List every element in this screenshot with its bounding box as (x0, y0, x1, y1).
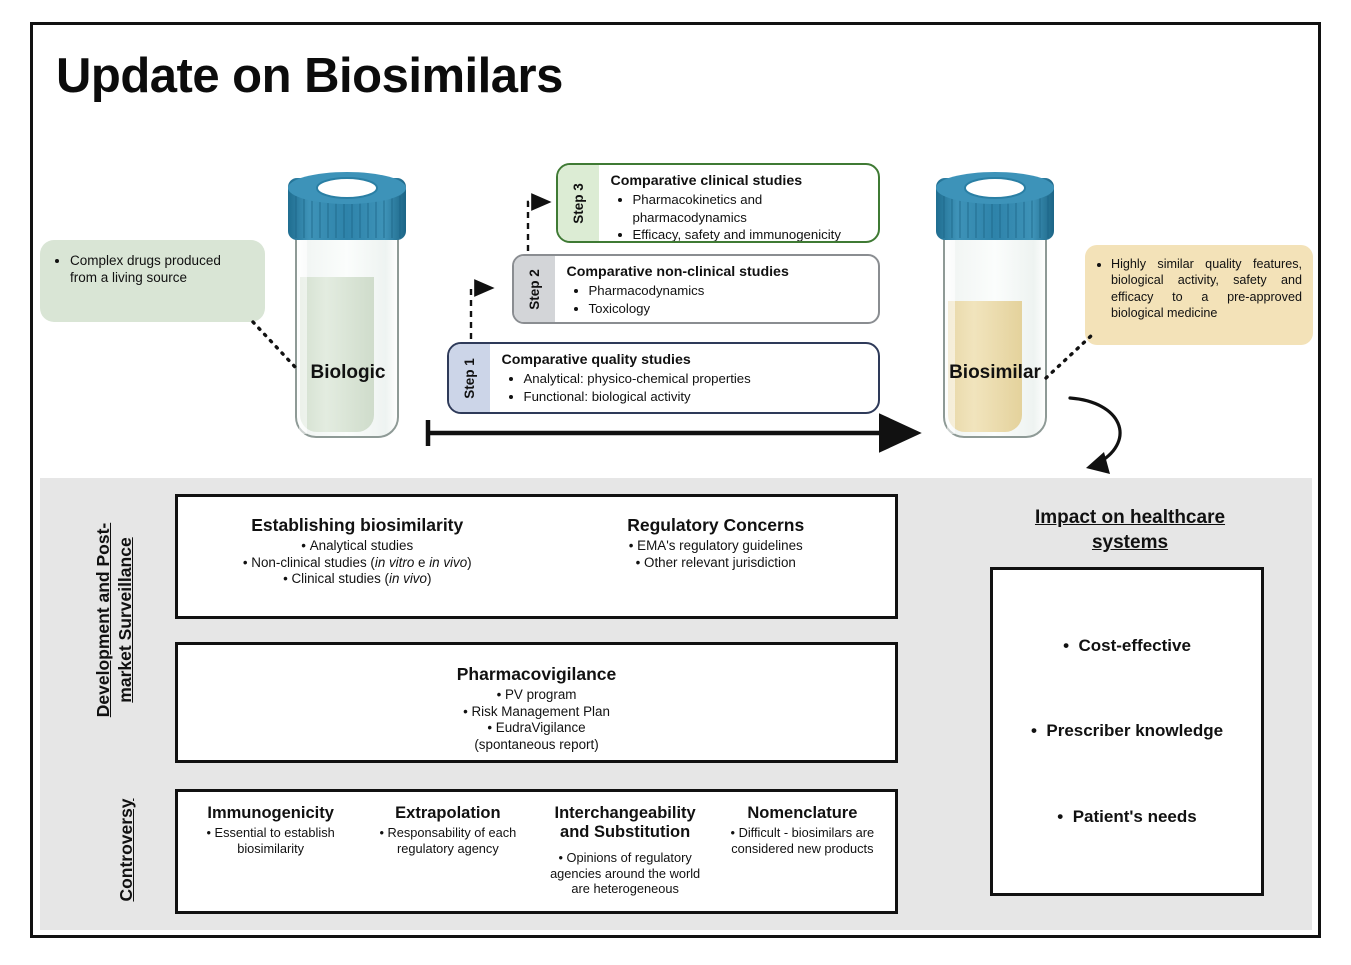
list-item: Essential to establish biosimilarity (186, 825, 355, 856)
establishing-column: Establishing biosimilarity Analytical st… (178, 515, 537, 616)
pharmacovigilance-heading: Pharmacovigilance (178, 664, 895, 685)
impact-heading-line2: systems (1092, 532, 1168, 553)
step-3-tab-label: Step 3 (571, 183, 586, 224)
interchangeability-list: Opinions of regulatory agencies around t… (541, 850, 710, 897)
nomenclature-list: Difficult - biosimilars are considered n… (718, 825, 887, 856)
impact-box (990, 567, 1264, 896)
regulatory-heading: Regulatory Concerns (537, 515, 896, 536)
step-2-heading: Comparative non-clinical studies (567, 264, 868, 280)
step-1-list: Analytical: physico-chemical properties … (502, 370, 868, 405)
controversy-column-immunogenicity: Immunogenicity Essential to establish bi… (182, 804, 359, 911)
right-callout-list: Highly similar quality features, biologi… (1094, 256, 1302, 322)
controversy-column-nomenclature: Nomenclature Difficult - biosimilars are… (714, 804, 891, 911)
establishing-heading: Establishing biosimilarity (178, 515, 537, 536)
step-2-box[interactable]: Step 2 Comparative non-clinical studies … (512, 254, 880, 324)
diagram-page: Update on Biosimilars Complex drugs prod… (0, 0, 1351, 965)
list-item: Other relevant jurisdiction (537, 555, 896, 572)
extrapolation-heading: Extrapolation (363, 804, 532, 823)
step-2-list: Pharmacodynamics Toxicology (567, 282, 868, 317)
extrapolation-list: Responsability of each regulatory agency (363, 825, 532, 856)
side-label-development: Development and Post- market Surveillanc… (92, 480, 136, 760)
list-item: Functional: biological activity (524, 388, 868, 406)
left-callout-box: Complex drugs produced from a living sou… (40, 240, 265, 322)
regulatory-list: EMA's regulatory guidelines Other releva… (537, 538, 896, 571)
pharmacovigilance-box: Pharmacovigilance PV program Risk Manage… (175, 642, 898, 763)
step-3-tab: Step 3 (558, 165, 599, 241)
list-item: Analytical: physico-chemical properties (524, 370, 868, 388)
immunogenicity-list: Essential to establish biosimilarity (186, 825, 355, 856)
pharmacovigilance-list: PV program Risk Management Plan EudraVig… (178, 687, 895, 753)
list-item: Pharmacodynamics (589, 282, 868, 300)
right-callout-box: Highly similar quality features, biologi… (1085, 245, 1313, 345)
step-3-body: Comparative clinical studies Pharmacokin… (599, 165, 878, 241)
step-1-tab: Step 1 (449, 344, 490, 412)
list-item: Risk Management Plan (178, 704, 895, 721)
controversy-column-extrapolation: Extrapolation Responsability of each reg… (359, 804, 536, 911)
controversy-box: Immunogenicity Essential to establish bi… (175, 789, 898, 914)
regulatory-column: Regulatory Concerns EMA's regulatory gui… (537, 515, 896, 616)
impact-heading-line1: Impact on healthcare (1035, 507, 1225, 528)
step-3-heading: Comparative clinical studies (611, 173, 868, 189)
side-label-controversy: Controversy (115, 785, 137, 915)
step-1-heading: Comparative quality studies (502, 352, 868, 368)
list-item: Responsability of each regulatory agency (363, 825, 532, 856)
list-item: Toxicology (589, 300, 868, 318)
list-item: Complex drugs produced from a living sou… (70, 252, 251, 286)
list-item: Efficacy, safety and immunogenicity (633, 226, 868, 243)
step-2-tab: Step 2 (514, 256, 555, 322)
step-1-body: Comparative quality studies Analytical: … (490, 344, 878, 412)
list-item: EMA's regulatory guidelines (537, 538, 896, 555)
step-3-box[interactable]: Step 3 Comparative clinical studies Phar… (556, 163, 880, 243)
biologic-vial-label: Biologic (296, 362, 400, 384)
left-callout-list: Complex drugs produced from a living sou… (52, 252, 251, 286)
biosimilar-vial-label: Biosimilar (930, 362, 1060, 384)
interchangeability-heading: Interchangeability and Substitution (541, 804, 710, 842)
list-item: EudraVigilance (178, 720, 895, 737)
list-item: Analytical studies (178, 538, 537, 555)
list-item: Non-clinical studies (in vitro e in vivo… (178, 555, 537, 572)
list-item: Clinical studies (in vivo) (178, 571, 537, 588)
side-label-development-line1: Development and Post- (93, 523, 113, 717)
establishing-regulatory-box: Establishing biosimilarity Analytical st… (175, 494, 898, 619)
step-1-box[interactable]: Step 1 Comparative quality studies Analy… (447, 342, 880, 414)
step-1-tab-label: Step 1 (462, 358, 477, 399)
establishing-list: Analytical studies Non-clinical studies … (178, 538, 537, 588)
step-3-list: Pharmacokinetics and pharmacodynamics Ef… (611, 191, 868, 243)
list-item: Difficult - biosimilars are considered n… (718, 825, 887, 856)
list-item: Pharmacokinetics and pharmacodynamics (633, 191, 868, 226)
immunogenicity-heading: Immunogenicity (186, 804, 355, 823)
pharmacovigilance-note: (spontaneous report) (178, 737, 895, 754)
step-2-body: Comparative non-clinical studies Pharmac… (555, 256, 878, 322)
controversy-column-interchangeability: Interchangeability and Substitution Opin… (537, 804, 714, 911)
page-title: Update on Biosimilars (56, 48, 563, 104)
step-2-tab-label: Step 2 (527, 269, 542, 310)
list-item: Opinions of regulatory agencies around t… (541, 850, 710, 897)
side-label-development-line2: market Surveillance (115, 537, 135, 702)
list-item: Highly similar quality features, biologi… (1111, 256, 1302, 322)
impact-heading: Impact on healthcare systems (985, 505, 1275, 555)
nomenclature-heading: Nomenclature (718, 804, 887, 823)
list-item: PV program (178, 687, 895, 704)
